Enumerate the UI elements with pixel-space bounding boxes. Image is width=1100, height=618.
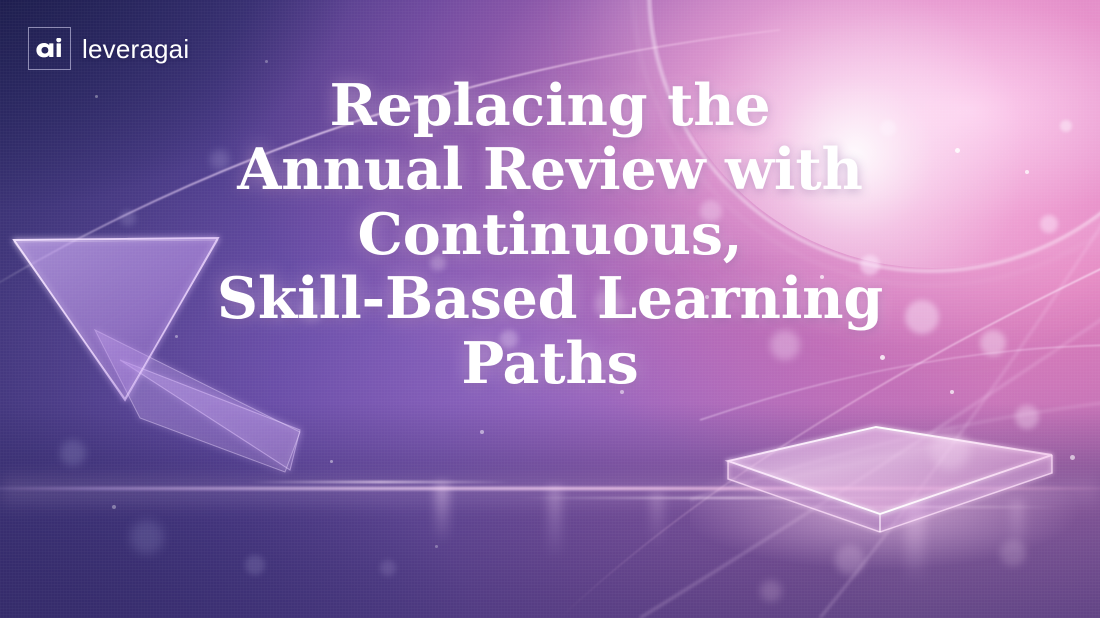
vertical-light-glow <box>650 492 664 546</box>
brand-wordmark: leveragai <box>82 36 189 62</box>
light-streak <box>520 497 940 499</box>
slide-title: Replacing the Annual Review with Continu… <box>0 74 1100 396</box>
brand-logo[interactable]: leveragai <box>28 27 189 70</box>
title-line-4: Skill-Based Learning <box>120 267 980 331</box>
title-line-1: Replacing the <box>120 74 980 138</box>
ai-mark-glyph <box>35 38 65 60</box>
title-line-5: Paths <box>120 332 980 396</box>
vertical-light-glow <box>905 498 925 584</box>
ai-logo-icon <box>28 27 71 70</box>
vertical-light-glow <box>548 487 562 559</box>
vertical-light-glow <box>1010 500 1024 560</box>
title-line-2: Annual Review with <box>120 138 980 202</box>
title-slide: leveragai Replacing the Annual Review wi… <box>0 0 1100 618</box>
light-streak <box>250 481 510 483</box>
vertical-light-glow <box>435 483 449 543</box>
title-line-3: Continuous, <box>120 203 980 267</box>
